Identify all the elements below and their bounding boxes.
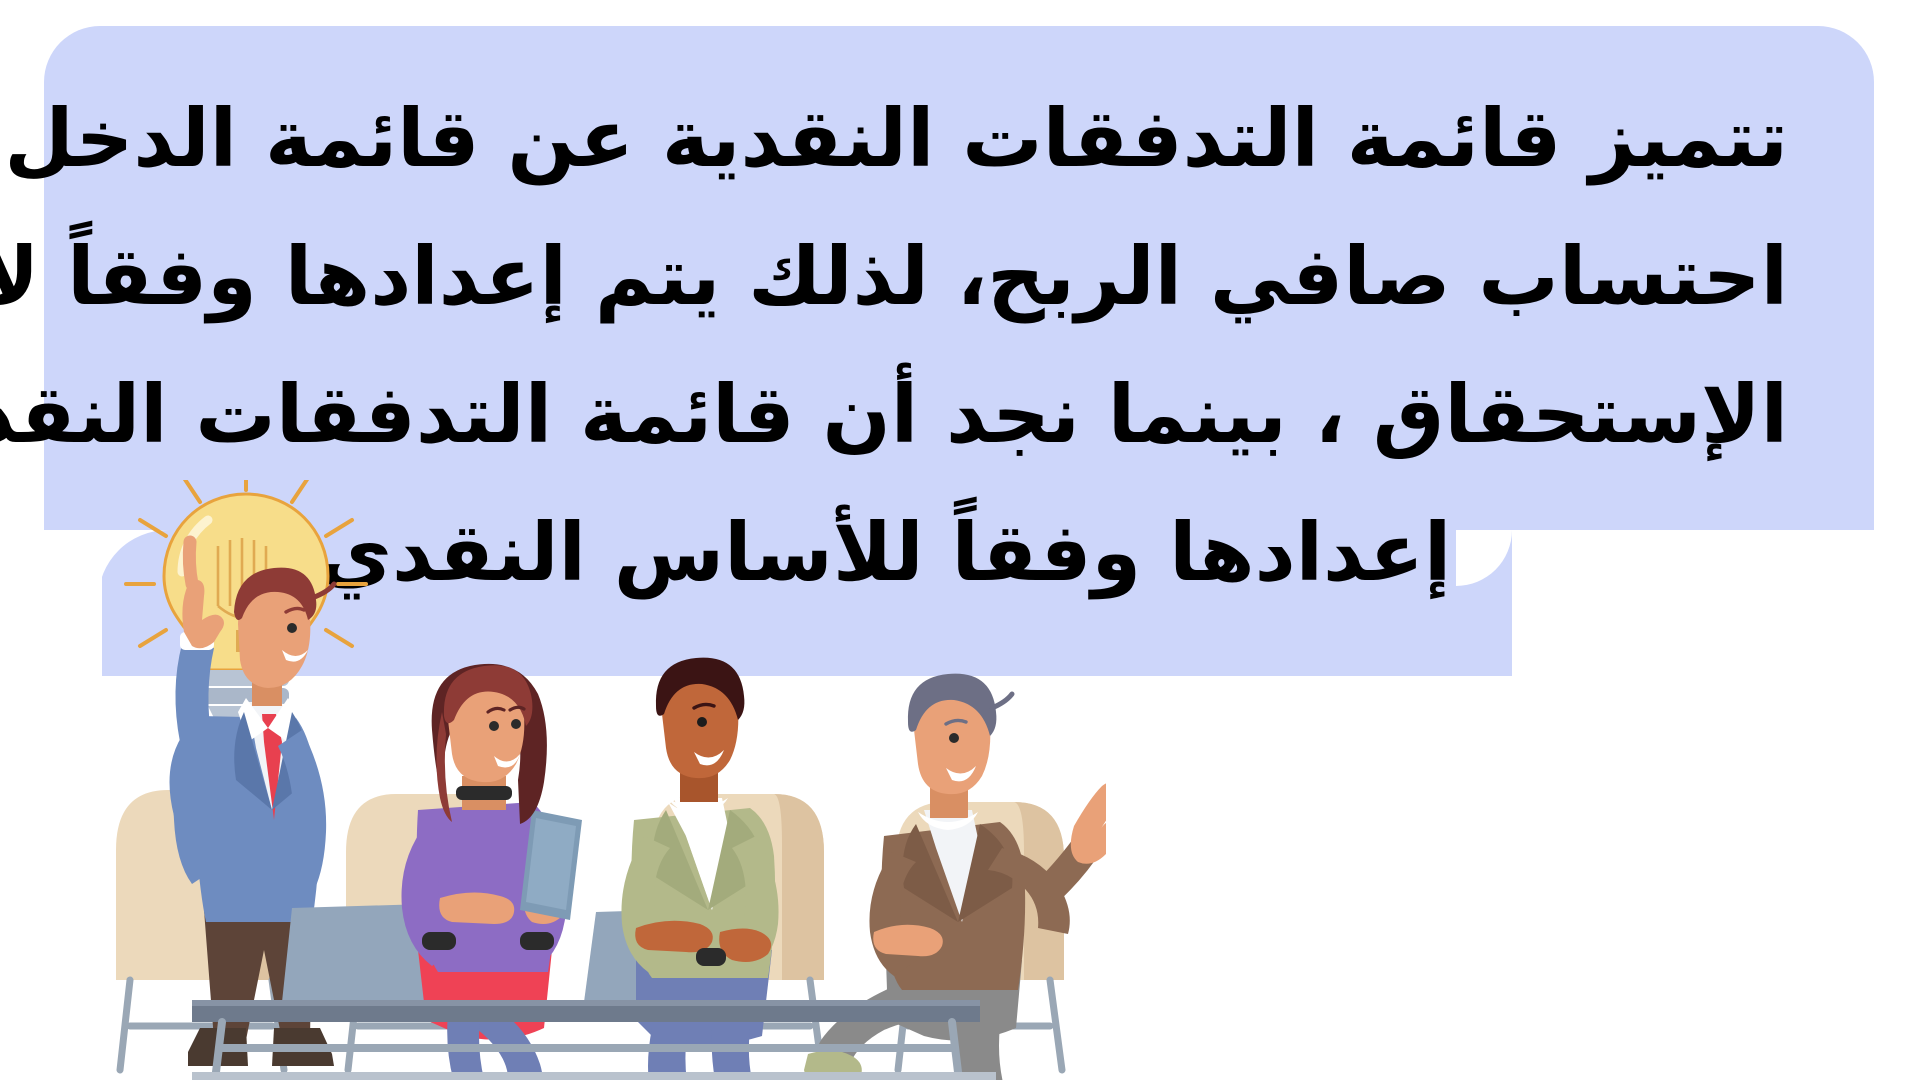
woman-eye-2	[511, 719, 521, 729]
man-waving-open-hand	[1071, 782, 1106, 864]
man-laptop-hand-left	[635, 921, 713, 952]
business-meeting-illustration	[96, 480, 1106, 1080]
woman-choker	[456, 786, 512, 800]
woman-hand-left	[439, 892, 514, 924]
page-root: تتميز قائمة التدفقات النقدية عن قائمة ال…	[0, 0, 1920, 1080]
standing-man-forearm	[175, 644, 214, 742]
floor-line	[192, 1072, 996, 1080]
man-waving-eye	[949, 733, 959, 743]
standing-man-eye	[287, 623, 297, 633]
standing-man-index-finger	[189, 542, 192, 584]
man-laptop-eye	[697, 717, 707, 727]
woman-eye-1	[489, 721, 499, 731]
